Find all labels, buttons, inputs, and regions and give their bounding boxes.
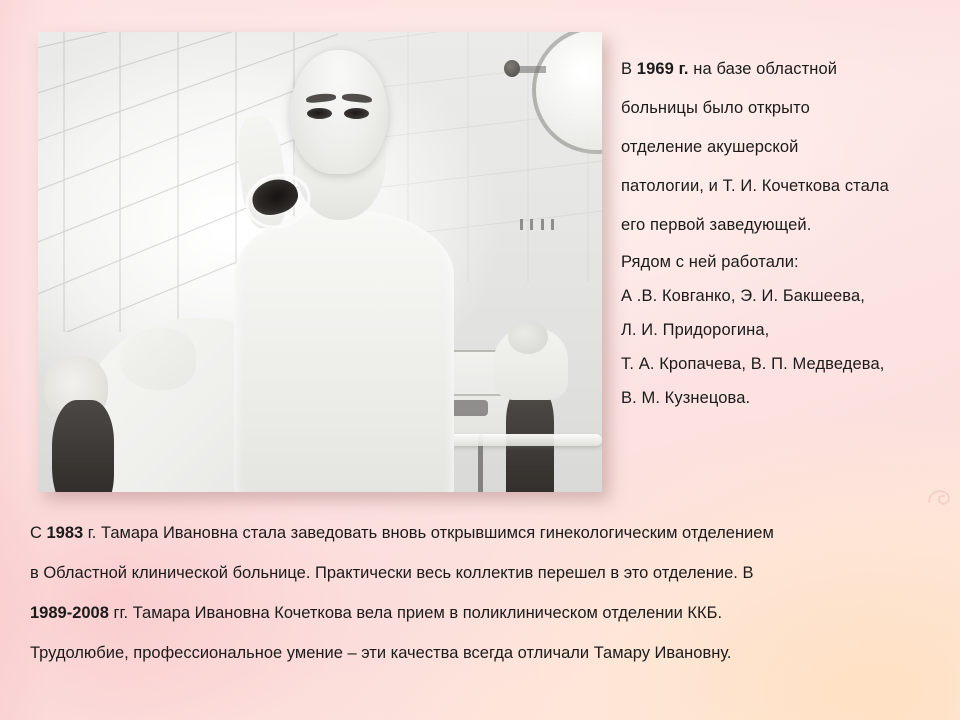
swirl-flourish-icon	[925, 480, 959, 514]
right-line-1-post: на базе областной	[689, 60, 837, 78]
right-text-column: В 1969 г. на базе областной больницы был…	[621, 50, 951, 415]
right-line-8-post: Л. И. Придорогина,	[621, 321, 769, 339]
right-line-1-pre: В	[621, 60, 637, 78]
slide-canvas: В 1969 г. на базе областной больницы был…	[0, 0, 960, 720]
right-line-10: В. М. Кузнецова.	[621, 381, 951, 415]
right-line-5: его первой заведующей.	[621, 206, 951, 245]
right-line-9-post: Т. А. Кропачева, В. П. Медведева,	[621, 355, 884, 373]
right-line-8: Л. И. Придорогина,	[621, 313, 951, 347]
right-line-6: Рядом с ней работали:	[621, 245, 951, 279]
bottom-line-3-post: гг. Тамара Ивановна Кочеткова вела прием…	[109, 604, 722, 622]
surgeon-brow-right	[342, 92, 373, 103]
bottom-line-4: Трудолюбие, профессиональное умение – эт…	[30, 633, 935, 673]
surgeon-gown	[234, 210, 454, 492]
surgeon-eye-left	[307, 108, 332, 119]
bottom-line-3: 1989-2008 гг. Тамара Ивановна Кочеткова …	[30, 593, 935, 633]
right-line-7: А .В. Ковганко, Э. И. Бакшеева,	[621, 279, 951, 313]
historical-photograph	[38, 32, 602, 492]
right-line-7-post: А .В. Ковганко, Э. И. Бакшеева,	[621, 287, 865, 305]
bottom-line-1-post: г. Тамара Ивановна стала заведовать внов…	[83, 524, 774, 542]
surgeon-head-cap	[290, 50, 388, 174]
bottom-line-4-post: Трудолюбие, профессиональное умение – эт…	[30, 644, 732, 662]
right-line-10-post: В. М. Кузнецова.	[621, 389, 750, 407]
bottom-line-2: в Областной клинической больнице. Практи…	[30, 553, 935, 593]
right-line-1: В 1969 г. на базе областной	[621, 50, 951, 89]
patient-hand	[120, 328, 196, 390]
bottom-text-block: С 1983 г. Тамара Ивановна стала заведова…	[30, 513, 935, 673]
patient-leg	[52, 400, 114, 492]
right-line-5-post: его первой заведующей.	[621, 216, 811, 234]
photo-surface	[38, 32, 602, 492]
right-line-4-post: патологии, и Т. И. Кочеткова стала	[621, 177, 889, 195]
right-line-1-bold: 1969 г.	[637, 60, 689, 78]
bottom-line-1: С 1983 г. Тамара Ивановна стала заведова…	[30, 513, 935, 553]
right-line-2-post: больницы было открыто	[621, 99, 810, 117]
surgeon-eye-right	[344, 108, 369, 119]
wall-switch-plate	[520, 218, 554, 230]
right-line-3: отделение акушерской	[621, 128, 951, 167]
right-line-2: больницы было открыто	[621, 89, 951, 128]
lamp-knob	[504, 60, 520, 77]
right-line-6-post: Рядом с ней работали:	[621, 253, 799, 271]
bottom-line-2-post: в Областной клинической больнице. Практи…	[30, 564, 753, 582]
bottom-line-1-bold: 1983	[47, 524, 84, 542]
surgeon-brow-left	[306, 92, 337, 103]
assistant-head	[508, 320, 548, 354]
right-line-4: патологии, и Т. И. Кочеткова стала	[621, 167, 951, 206]
bottom-line-1-pre: С	[30, 524, 47, 542]
right-line-3-post: отделение акушерской	[621, 138, 798, 156]
right-line-9: Т. А. Кропачева, В. П. Медведева,	[621, 347, 951, 381]
bottom-line-3-bold: 1989-2008	[30, 604, 109, 622]
